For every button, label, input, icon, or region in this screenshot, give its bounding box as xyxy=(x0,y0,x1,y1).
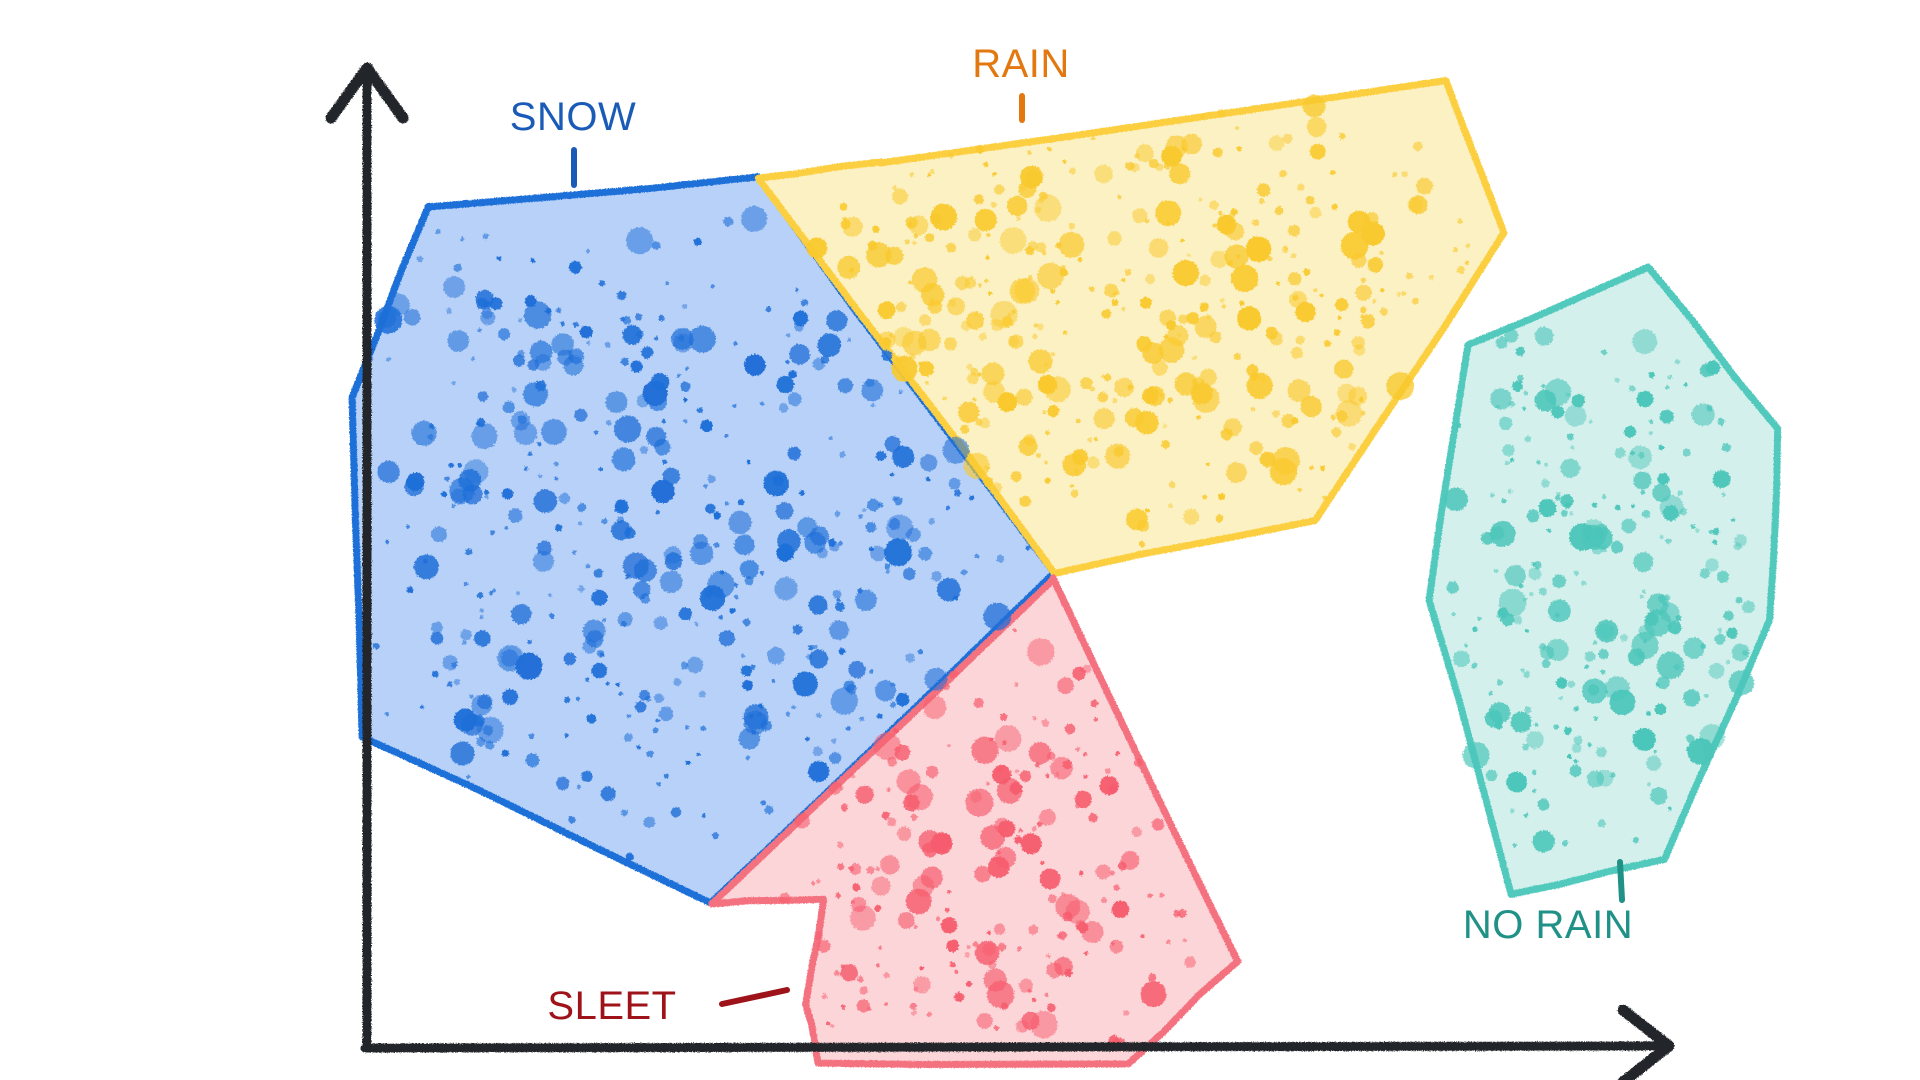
cluster-label-rain: RAIN xyxy=(972,42,1070,86)
data-point xyxy=(890,682,894,686)
data-point xyxy=(480,609,484,613)
data-point xyxy=(1112,398,1117,403)
data-point xyxy=(1089,813,1098,822)
data-point xyxy=(1517,375,1523,381)
data-point xyxy=(1331,427,1341,437)
data-point xyxy=(652,241,660,249)
data-point xyxy=(538,474,542,478)
data-point xyxy=(818,333,842,357)
data-point xyxy=(948,153,954,159)
data-point xyxy=(923,696,946,719)
data-point xyxy=(1310,207,1322,219)
data-point xyxy=(816,879,820,883)
data-point xyxy=(1161,146,1182,167)
data-point xyxy=(635,313,642,320)
data-point xyxy=(1135,411,1159,435)
data-point xyxy=(1687,738,1714,765)
data-point xyxy=(600,653,604,657)
data-point xyxy=(654,693,664,703)
data-point xyxy=(554,477,558,481)
data-point xyxy=(514,422,537,445)
data-point xyxy=(1657,473,1669,485)
data-point xyxy=(990,301,1017,328)
data-point xyxy=(965,952,970,957)
data-point xyxy=(1047,1003,1056,1012)
data-point xyxy=(994,184,1004,194)
data-point xyxy=(624,733,633,742)
data-point xyxy=(1152,388,1159,395)
data-point xyxy=(594,431,598,435)
data-point xyxy=(829,436,833,440)
data-point xyxy=(1574,759,1578,763)
data-point xyxy=(927,173,931,177)
data-point xyxy=(835,893,840,898)
data-point xyxy=(835,511,841,517)
data-point xyxy=(1217,109,1225,117)
data-point xyxy=(841,1005,846,1010)
data-point xyxy=(906,528,920,542)
data-point xyxy=(779,893,790,904)
data-point xyxy=(880,855,899,874)
data-point xyxy=(594,569,603,578)
data-point xyxy=(1524,391,1528,395)
data-point xyxy=(1542,659,1551,668)
data-point xyxy=(1064,969,1072,977)
data-point xyxy=(1159,393,1163,397)
data-point xyxy=(951,440,955,444)
data-point xyxy=(757,712,762,717)
data-point xyxy=(887,817,896,826)
data-point xyxy=(1447,581,1459,593)
data-point xyxy=(518,350,525,357)
data-point xyxy=(605,682,609,686)
data-point xyxy=(697,407,703,413)
data-point xyxy=(1231,208,1238,215)
data-point xyxy=(1704,694,1708,698)
data-point xyxy=(947,890,951,894)
data-point xyxy=(1021,833,1042,854)
data-point xyxy=(807,238,828,259)
data-point xyxy=(890,702,896,708)
data-point xyxy=(577,503,586,512)
data-point xyxy=(1007,196,1027,216)
data-point xyxy=(1514,616,1523,625)
data-point xyxy=(975,554,980,559)
data-point xyxy=(1047,405,1059,417)
data-point xyxy=(931,571,942,582)
data-point xyxy=(1646,756,1661,771)
data-point xyxy=(906,889,932,915)
data-point xyxy=(1611,541,1623,553)
data-point xyxy=(1683,689,1700,706)
data-point xyxy=(1397,292,1401,296)
data-point xyxy=(1076,418,1081,423)
data-point xyxy=(1668,621,1682,635)
data-point xyxy=(1288,272,1301,285)
data-point xyxy=(466,775,470,779)
data-point xyxy=(907,803,911,807)
data-point xyxy=(1222,304,1226,308)
data-point xyxy=(882,337,891,346)
data-point xyxy=(1561,459,1580,478)
data-point xyxy=(1456,423,1461,428)
data-point xyxy=(876,867,880,871)
data-point xyxy=(1664,594,1670,600)
data-point xyxy=(995,725,1022,752)
data-point xyxy=(1522,407,1526,411)
data-point xyxy=(1071,490,1079,498)
data-point xyxy=(435,229,440,234)
data-point xyxy=(556,777,569,790)
data-point xyxy=(997,767,1003,773)
data-point xyxy=(1532,770,1537,775)
data-point xyxy=(556,308,562,314)
data-point xyxy=(1056,300,1060,304)
data-point xyxy=(793,672,818,697)
data-point xyxy=(903,568,916,581)
data-point xyxy=(1046,962,1062,978)
data-point xyxy=(1211,251,1228,268)
data-point xyxy=(673,678,681,686)
data-point xyxy=(432,671,439,678)
data-point xyxy=(677,374,681,378)
data-point xyxy=(896,693,909,706)
data-point xyxy=(1016,216,1021,221)
data-point xyxy=(1042,410,1046,414)
data-point xyxy=(968,228,981,241)
data-point xyxy=(659,707,673,721)
data-point xyxy=(555,524,562,531)
data-point xyxy=(1136,144,1154,162)
data-point xyxy=(1629,385,1636,392)
data-point xyxy=(472,423,498,449)
data-point xyxy=(1548,600,1571,623)
data-point xyxy=(806,654,811,659)
data-point xyxy=(447,330,469,352)
data-point xyxy=(1505,565,1526,586)
data-point xyxy=(523,382,548,407)
data-point xyxy=(893,728,898,733)
data-point xyxy=(1121,851,1140,870)
data-point xyxy=(1108,784,1118,794)
data-point xyxy=(417,256,423,262)
data-point xyxy=(1525,436,1532,443)
data-point xyxy=(877,713,883,719)
data-point xyxy=(713,512,721,520)
data-point xyxy=(1587,770,1604,787)
data-point xyxy=(377,461,399,483)
data-point xyxy=(867,499,880,512)
data-point xyxy=(1148,974,1156,982)
data-point xyxy=(1051,352,1055,356)
data-point xyxy=(889,333,893,337)
data-point xyxy=(606,420,611,425)
data-point xyxy=(852,883,860,891)
data-point xyxy=(1110,940,1124,954)
data-point xyxy=(1621,519,1636,534)
data-point xyxy=(1510,458,1514,462)
data-point xyxy=(793,311,808,326)
data-point xyxy=(1334,329,1340,335)
data-point xyxy=(1239,301,1244,306)
data-point xyxy=(889,518,901,530)
data-point xyxy=(1642,590,1646,594)
data-point xyxy=(627,714,631,718)
data-point xyxy=(1145,508,1149,512)
data-point xyxy=(967,945,971,949)
data-point xyxy=(1029,742,1051,764)
data-point xyxy=(947,940,959,952)
data-point xyxy=(446,308,452,314)
data-point xyxy=(623,325,643,345)
data-point xyxy=(1700,363,1714,377)
data-point xyxy=(882,350,893,361)
data-point xyxy=(614,500,628,514)
data-point xyxy=(1572,743,1582,753)
data-point xyxy=(664,774,669,779)
data-point xyxy=(1121,278,1125,282)
data-point xyxy=(1457,266,1465,274)
data-point xyxy=(483,725,493,735)
data-point xyxy=(886,569,890,573)
data-point xyxy=(483,233,489,239)
data-point xyxy=(835,602,845,612)
data-point xyxy=(1742,601,1755,614)
data-point xyxy=(458,463,462,467)
data-point xyxy=(1532,562,1536,566)
data-point xyxy=(450,741,474,765)
data-point xyxy=(606,391,628,413)
data-point xyxy=(1178,314,1188,324)
data-point xyxy=(1237,146,1242,151)
data-point xyxy=(838,863,845,870)
data-point xyxy=(994,1025,1000,1031)
data-point xyxy=(1649,372,1655,378)
data-point xyxy=(984,279,988,283)
data-point xyxy=(564,653,576,665)
data-point xyxy=(1063,760,1072,769)
data-point xyxy=(1200,114,1205,119)
data-point xyxy=(1306,196,1315,205)
data-point xyxy=(631,360,643,372)
data-point xyxy=(1559,696,1563,700)
data-point xyxy=(702,814,706,818)
data-point xyxy=(830,1024,834,1028)
data-point xyxy=(524,467,528,471)
data-point xyxy=(1127,385,1133,391)
data-point xyxy=(1060,265,1066,271)
data-point xyxy=(1152,360,1168,376)
data-point xyxy=(1359,397,1364,402)
data-point xyxy=(477,694,492,709)
data-point xyxy=(884,539,912,567)
data-point xyxy=(1465,261,1469,265)
data-point xyxy=(1527,510,1540,523)
data-point xyxy=(1560,494,1573,507)
data-point xyxy=(1677,491,1682,496)
data-point xyxy=(492,589,496,593)
data-point xyxy=(898,912,915,929)
data-point xyxy=(1038,375,1057,394)
data-point xyxy=(1152,818,1164,830)
data-point xyxy=(1570,765,1582,777)
data-point xyxy=(1726,660,1731,665)
data-point xyxy=(876,451,886,461)
data-point xyxy=(992,857,996,861)
data-point xyxy=(992,172,996,176)
data-point xyxy=(734,342,738,346)
data-point xyxy=(1027,638,1055,666)
data-point xyxy=(1125,269,1132,276)
data-point xyxy=(918,649,923,654)
data-point xyxy=(1159,892,1164,897)
data-point xyxy=(1568,681,1575,688)
data-point xyxy=(926,477,931,482)
data-point xyxy=(1283,134,1293,144)
data-point xyxy=(526,753,540,767)
chart-canvas: SNOW RAIN SLEET NO RAIN xyxy=(0,0,1920,1080)
data-point xyxy=(428,434,434,440)
data-point xyxy=(444,476,450,482)
data-point xyxy=(971,737,998,764)
data-point xyxy=(664,546,681,563)
data-point xyxy=(1723,611,1733,621)
data-point xyxy=(966,364,972,370)
data-point xyxy=(572,550,576,554)
data-point xyxy=(1453,248,1458,253)
data-point xyxy=(643,816,655,828)
data-point xyxy=(820,355,829,364)
data-point xyxy=(443,276,465,298)
data-point xyxy=(641,347,653,359)
data-point xyxy=(1098,392,1108,402)
data-point xyxy=(1123,1010,1129,1016)
data-point xyxy=(729,608,735,614)
data-point xyxy=(463,484,483,504)
data-point xyxy=(926,766,938,778)
data-point xyxy=(624,528,635,539)
data-point xyxy=(616,683,620,687)
data-point xyxy=(1541,384,1545,388)
data-point xyxy=(925,381,929,385)
data-point xyxy=(474,630,490,646)
data-point xyxy=(1010,278,1035,303)
data-point xyxy=(1072,667,1085,680)
data-point xyxy=(866,522,877,533)
data-point xyxy=(1499,589,1527,617)
data-point xyxy=(1554,724,1559,729)
data-point xyxy=(1594,524,1608,538)
data-point xyxy=(1564,727,1572,735)
data-point xyxy=(1490,388,1512,410)
data-point xyxy=(680,382,690,392)
data-point xyxy=(504,526,508,530)
data-point xyxy=(1361,314,1375,328)
data-point xyxy=(1313,288,1317,292)
data-point xyxy=(1112,299,1119,306)
data-point xyxy=(1032,333,1038,339)
data-point xyxy=(1463,742,1490,769)
data-point xyxy=(1557,492,1561,496)
data-point xyxy=(1200,303,1209,312)
data-point xyxy=(1335,298,1348,311)
data-point xyxy=(1380,308,1388,316)
data-point xyxy=(766,306,772,312)
data-point xyxy=(511,387,516,392)
data-point xyxy=(1226,462,1247,483)
data-point xyxy=(654,439,670,455)
data-point xyxy=(1020,770,1031,781)
data-point xyxy=(1183,938,1187,942)
data-point xyxy=(1032,826,1038,832)
data-point xyxy=(528,452,532,456)
data-point xyxy=(1134,758,1143,767)
data-point xyxy=(745,576,754,585)
data-point xyxy=(760,571,764,575)
data-point xyxy=(793,625,803,635)
data-point xyxy=(1094,165,1113,184)
data-point xyxy=(518,318,522,322)
data-point xyxy=(1014,683,1018,687)
data-point xyxy=(734,583,738,587)
data-point xyxy=(700,726,706,732)
data-point xyxy=(1202,495,1207,500)
data-point xyxy=(1332,204,1338,210)
data-point xyxy=(586,630,603,647)
data-point xyxy=(660,571,683,594)
data-point xyxy=(452,381,456,385)
data-point xyxy=(789,344,810,365)
data-point xyxy=(1283,245,1288,250)
data-point xyxy=(687,657,703,673)
data-point xyxy=(1624,426,1636,438)
data-point xyxy=(1348,211,1371,234)
data-point xyxy=(857,976,863,982)
data-point xyxy=(831,738,836,743)
data-point xyxy=(986,256,990,260)
data-point xyxy=(480,615,484,619)
data-point xyxy=(1680,508,1688,516)
data-point xyxy=(1490,521,1516,547)
data-point xyxy=(954,490,961,497)
data-point xyxy=(840,786,844,790)
data-point xyxy=(1016,389,1033,406)
data-point xyxy=(1402,171,1408,177)
data-point xyxy=(1083,752,1087,756)
data-point xyxy=(1722,443,1731,452)
data-point xyxy=(1511,712,1532,733)
data-point xyxy=(1334,360,1353,379)
data-point xyxy=(1272,410,1280,418)
data-point xyxy=(1633,837,1639,843)
data-point xyxy=(1641,490,1646,495)
data-point xyxy=(1339,133,1346,140)
data-point xyxy=(621,358,629,366)
data-point xyxy=(1186,312,1198,324)
data-point xyxy=(1499,417,1512,430)
data-point xyxy=(724,434,728,438)
data-point xyxy=(912,241,916,245)
data-point xyxy=(1453,651,1470,668)
data-point xyxy=(866,242,891,267)
data-point xyxy=(1251,407,1255,411)
data-point xyxy=(1485,710,1503,728)
data-point xyxy=(471,357,475,361)
data-point xyxy=(998,943,1006,951)
data-point xyxy=(983,162,989,168)
data-point xyxy=(838,378,853,393)
data-point xyxy=(1298,488,1302,492)
